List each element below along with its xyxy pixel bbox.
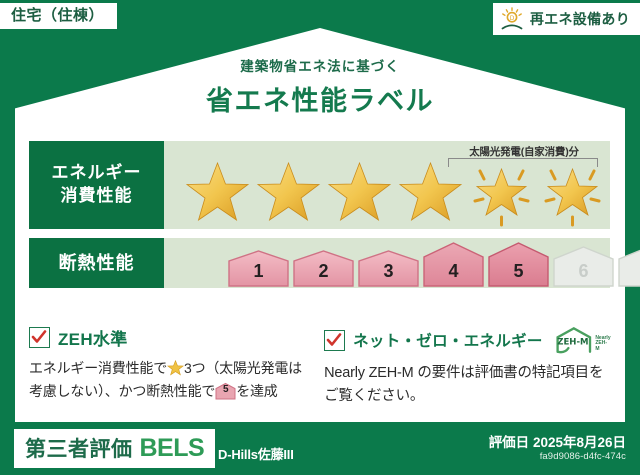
zeh-standard-title: ZEH水準 <box>58 325 128 350</box>
building-name: D-Hills佐藤III <box>218 444 294 463</box>
star-3 <box>324 149 395 227</box>
net-zero-header: ネット・ゼロ・エネルギー ZEH-M Nearly ZEH-M <box>324 325 611 355</box>
insulation-badge-1: 1 <box>227 248 290 288</box>
zeh-standard-header: ZEH水準 <box>29 325 306 350</box>
badge-3-number: 3 <box>357 261 420 282</box>
label-subtitle: 建築物省エネ法に基づく <box>0 55 640 75</box>
check-icon <box>31 329 47 345</box>
zeh-m-house-icon: ZEH-M <box>554 325 594 355</box>
svg-text:D: D <box>510 15 515 22</box>
inline-star-icon <box>167 359 184 376</box>
badge-7-number: 7 <box>617 261 640 282</box>
zeh-m-sub-line2: ZEH-M <box>595 340 607 352</box>
star-5-solar <box>466 149 537 227</box>
insulation-level-badges: 1 2 3 <box>227 240 640 288</box>
label-title: 省エネ性能ラベル <box>0 79 640 118</box>
insulation-row-label: 断熱性能 <box>29 238 164 288</box>
zeh-desc-part1: エネルギー消費性能で <box>29 360 167 376</box>
net-zero-title: ネット・ゼロ・エネルギー <box>353 329 543 351</box>
net-zero-description: Nearly ZEH-M の要件は評価書の特記項目をご覧ください。 <box>324 362 611 408</box>
evaluation-date: 評価日 2025年8月26日 <box>489 431 626 451</box>
star-2 <box>253 149 324 227</box>
insulation-performance-row: 断熱性能 1 <box>29 238 610 288</box>
inline-insulation-badge: 5 <box>215 382 236 400</box>
badge-6-number: 6 <box>552 261 615 282</box>
star-1 <box>182 149 253 227</box>
check-icon <box>326 332 342 348</box>
zeh-desc-part3: を達成 <box>236 383 277 399</box>
badge-2-number: 2 <box>292 261 355 282</box>
bels-jp-label: 第三者評価 <box>25 433 133 463</box>
zeh-standard-checkbox[interactable] <box>29 327 50 348</box>
performance-rows: エネルギー 消費性能 太陽光発電(自家消費)分 <box>29 141 610 297</box>
badge-5-number: 5 <box>487 261 550 282</box>
insulation-badge-5: 5 <box>487 240 550 288</box>
renewable-tag-label: 再エネ設備あり <box>530 9 630 29</box>
bels-badge: 第三者評価 BELS <box>14 429 215 468</box>
energy-row-label: エネルギー 消費性能 <box>29 141 164 229</box>
renewable-equipment-tag: D 再エネ設備あり <box>493 3 640 35</box>
insulation-badge-4: 4 <box>422 240 485 288</box>
bels-en-label: BELS <box>140 434 205 463</box>
energy-row-value: 太陽光発電(自家消費)分 <box>164 141 610 229</box>
energy-performance-label: 住宅（住棟） D 再エネ設備あり 建築物省エネ法に基づく 省エネ性能ラベル <box>0 0 640 475</box>
svg-text:ZEH-M: ZEH-M <box>557 338 588 348</box>
housing-type-tag: 住宅（住棟） <box>0 3 117 29</box>
footer-bar: 第三者評価 BELS D-Hills佐藤III 評価日 2025年8月26日 f… <box>0 422 640 475</box>
badge-4-number: 4 <box>422 261 485 282</box>
insulation-badge-2: 2 <box>292 248 355 288</box>
energy-performance-row: エネルギー 消費性能 太陽光発電(自家消費)分 <box>29 141 610 229</box>
zeh-sections: ZEH水準 エネルギー消費性能で 3つ（太陽光発電は考慮しない）、かつ断熱性能で… <box>29 325 611 408</box>
insulation-badge-7: 7 <box>617 244 640 288</box>
zeh-m-logo: ZEH-M Nearly ZEH-M <box>554 325 611 355</box>
sun-solar-icon: D <box>499 7 525 31</box>
energy-label-line2: 消費性能 <box>61 185 133 208</box>
net-zero-energy-block: ネット・ゼロ・エネルギー ZEH-M Nearly ZEH-M Nearly Z… <box>324 325 611 408</box>
energy-label-line1: エネルギー <box>52 162 142 185</box>
evaluation-id: fa9d9086-d4fc-474c <box>540 451 626 462</box>
zeh-standard-description: エネルギー消費性能で 3つ（太陽光発電は考慮しない）、かつ断熱性能で 5を達成 <box>29 357 306 402</box>
net-zero-checkbox[interactable] <box>324 330 345 351</box>
zeh-m-logo-subtext: Nearly ZEH-M <box>595 336 611 356</box>
badge-1-number: 1 <box>227 261 290 282</box>
inline-badge-number: 5 <box>215 382 236 398</box>
zeh-standard-block: ZEH水準 エネルギー消費性能で 3つ（太陽光発電は考慮しない）、かつ断熱性能で… <box>29 325 306 408</box>
star-6-solar <box>537 149 608 227</box>
insulation-badge-6: 6 <box>552 244 615 288</box>
page-title: 建築物省エネ法に基づく 省エネ性能ラベル <box>0 55 640 118</box>
star-rating <box>182 149 608 227</box>
insulation-row-value: 1 2 3 <box>164 238 610 288</box>
insulation-badge-3: 3 <box>357 248 420 288</box>
star-4 <box>395 149 466 227</box>
